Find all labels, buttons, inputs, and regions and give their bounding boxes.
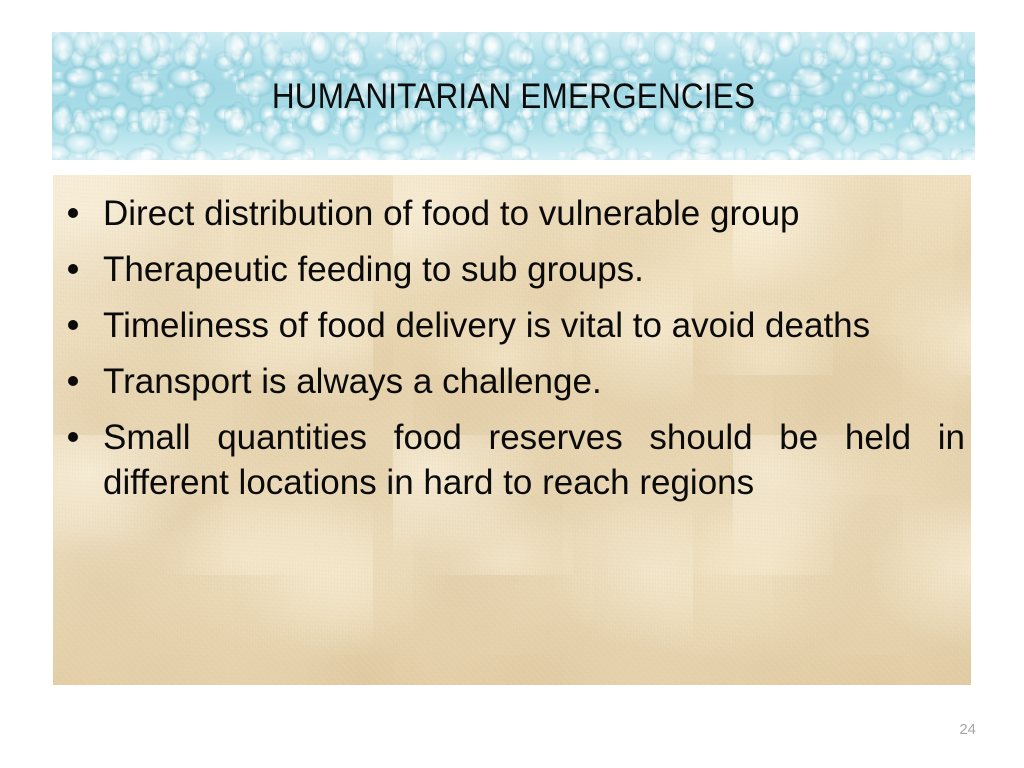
bullet-dot-icon — [68, 264, 78, 274]
bullet-dot-icon — [68, 432, 78, 442]
bullet-item-label: Small quantities food reserves should be… — [103, 415, 965, 505]
slide-number: 24 — [959, 721, 976, 739]
presentation-slide: HUMANITARIAN EMERGENCIES Direct distribu… — [0, 0, 1024, 768]
bullet-item-label: Direct distribution of food to vulnerabl… — [103, 191, 965, 236]
bullet-item: Therapeutic feeding to sub groups. — [53, 247, 971, 292]
bullet-item-label: Therapeutic feeding to sub groups. — [103, 247, 965, 292]
bullet-dot-icon — [68, 320, 78, 330]
bullet-item: Small quantities food reserves should be… — [53, 415, 971, 505]
bullet-dot-icon — [68, 376, 78, 386]
bullet-item-label: Transport is always a challenge. — [103, 359, 965, 404]
bullet-item: Direct distribution of food to vulnerabl… — [53, 191, 971, 236]
title-banner: HUMANITARIAN EMERGENCIES — [52, 32, 975, 160]
bullet-item: Timeliness of food delivery is vital to … — [53, 303, 971, 348]
bullet-dot-icon — [68, 208, 78, 218]
bullet-list: Direct distribution of food to vulnerabl… — [53, 175, 971, 685]
slide-body-panel: Direct distribution of food to vulnerabl… — [53, 175, 971, 685]
bullet-item: Transport is always a challenge. — [53, 359, 971, 404]
bullet-item-label: Timeliness of food delivery is vital to … — [103, 303, 965, 348]
page-title: HUMANITARIAN EMERGENCIES — [98, 76, 929, 118]
